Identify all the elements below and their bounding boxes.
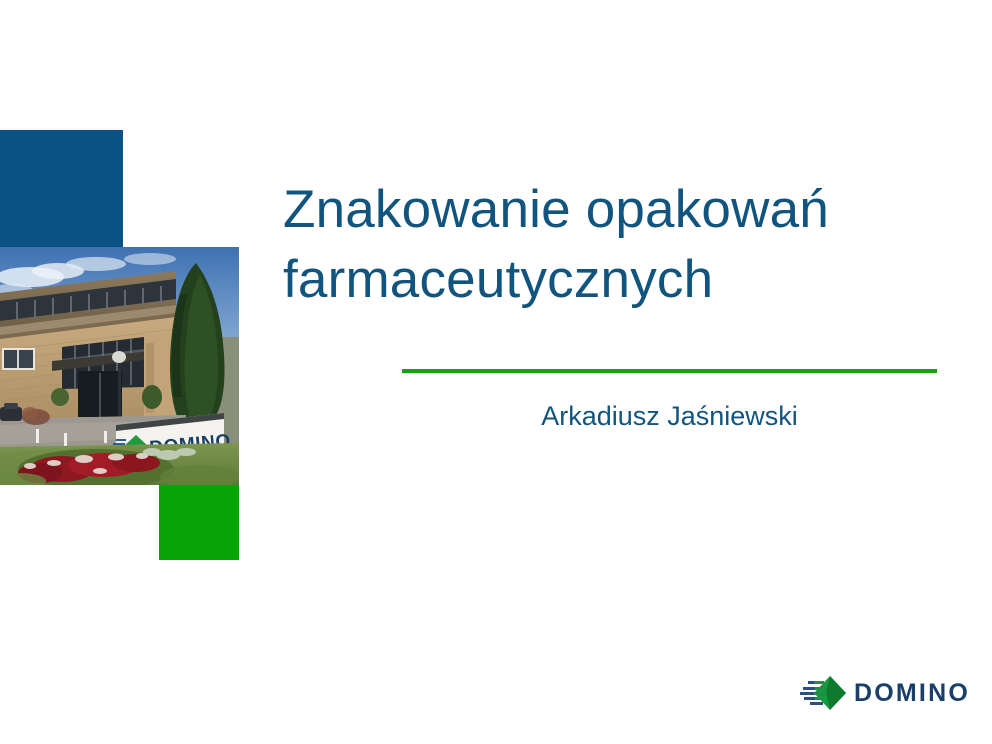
author-name: Arkadiusz Jaśniewski xyxy=(402,398,937,434)
title-line-1: Znakowanie opakowań xyxy=(283,175,943,245)
title-line-2: farmaceutycznych xyxy=(283,245,943,315)
photo-artwork: DOMINO xyxy=(0,247,239,485)
blue-square-decoration xyxy=(0,130,123,248)
domino-wordmark: DOMINO xyxy=(854,681,970,706)
slide-title: Znakowanie opakowań farmaceutycznych xyxy=(283,175,943,315)
title-slide: DOMINO xyxy=(0,0,992,744)
domino-diamond-arrow-icon xyxy=(800,674,848,712)
green-square-decoration xyxy=(159,484,239,560)
domino-logo: DOMINO xyxy=(800,672,952,714)
green-divider-rule xyxy=(402,369,937,373)
office-building-photo: DOMINO xyxy=(0,247,239,485)
